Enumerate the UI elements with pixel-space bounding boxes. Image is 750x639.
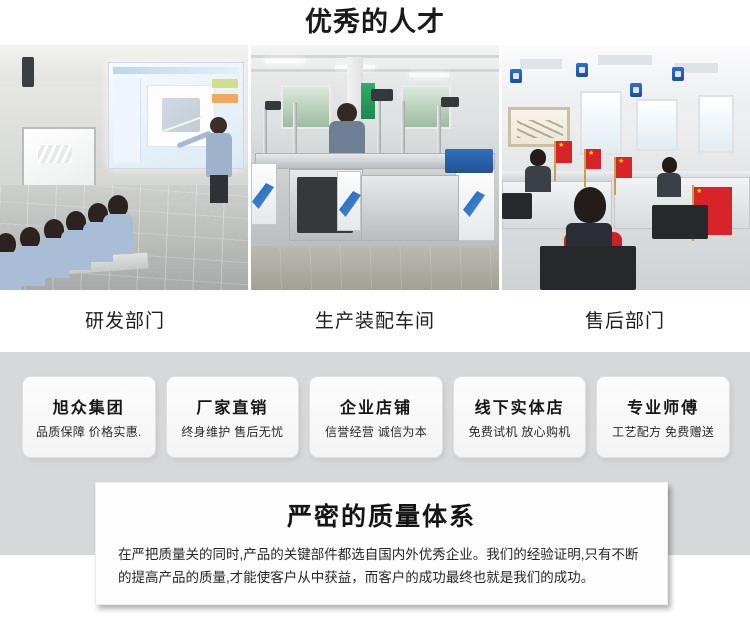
photo-assembly-workshop [251,45,499,290]
machine-rod [377,97,381,153]
feature-card-subtitle: 工艺配方 免费赠送 [612,423,714,440]
speaker-icon [22,57,34,87]
hanging-sign-icon [510,69,522,83]
ceiling-tile [598,55,652,65]
feature-card-professional-master[interactable]: 专业师傅 工艺配方 免费赠送 [596,376,730,458]
ceiling-lamp [265,59,305,63]
machine-frame [361,175,459,241]
window [281,85,331,129]
screen-sidebar [113,78,141,162]
ceiling-lamp [409,73,449,77]
blue-crate [445,149,493,173]
caption-aftersales-department: 售后部门 [500,290,750,354]
monitor [502,193,532,219]
promo-page: 优秀的人才 [0,0,750,639]
floor [251,246,499,290]
staff-person [530,149,551,192]
china-flag [586,149,601,169]
machine-rod [263,107,267,153]
presenter-body [206,133,232,177]
window [580,91,622,155]
monitor [540,246,636,290]
machine-head [441,97,459,107]
quality-system-panel: 严密的质量体系 在严把质量关的同时,产品的关键部件都选自国内外优秀企业。我们的经… [95,482,668,605]
feature-card-subtitle: 终身维护 售后无忧 [181,423,283,440]
window [698,95,734,153]
feature-card-subtitle: 信誉经营 诚信为本 [325,423,427,440]
machine-rod [437,105,441,153]
hanging-sign-icon [630,83,642,97]
machine-head [265,101,281,110]
china-flag [556,141,572,163]
hanging-sign-icon [576,63,588,77]
feature-card-title: 旭众集团 [53,394,125,418]
caption-assembly-workshop: 生产装配车间 [250,290,500,354]
feature-card-subtitle: 免费试机 放心购机 [469,423,571,440]
whiteboard [22,127,96,187]
feature-card-enterprise-store[interactable]: 企业店铺 信誉经营 诚信为本 [309,376,443,458]
quality-system-title: 严密的质量体系 [96,497,667,533]
photo-gallery [0,45,750,290]
quality-system-body: 在严把质量关的同时,产品的关键部件都选自国内外优秀企业。我们的经验证明,只有不断… [96,543,667,589]
presenter-legs [210,175,228,203]
feature-card-subtitle: 品质保障 价格实惠. [36,423,142,440]
screen-toolbar [113,67,239,74]
photo-captions: 研发部门 生产装配车间 售后部门 [0,290,750,354]
machine-head [371,89,393,101]
photo-aftersales-department [502,45,750,290]
presenter-person [206,117,234,203]
feature-card-factory-direct[interactable]: 厂家直销 终身维护 售后无忧 [166,376,300,458]
feature-card-offline-store[interactable]: 线下实体店 免费试机 放心购机 [453,376,587,458]
monitor [652,205,708,239]
caption-rnd-department: 研发部门 [0,290,250,354]
feature-card-title: 专业师傅 [627,394,699,418]
feature-card-title: 线下实体店 [475,394,565,418]
feature-card-list: 旭众集团 品质保障 价格实惠. 厂家直销 终身维护 售后无忧 企业店铺 信誉经营… [0,352,750,458]
photo-rnd-department [0,45,248,290]
presenter-head [210,117,227,134]
window [401,85,451,129]
seated-staff-group [0,185,164,290]
staff-person [662,157,681,197]
machine-rod [401,101,405,153]
ceiling-tile [520,59,562,69]
machine-rod [293,103,297,153]
china-flag [616,157,632,178]
hanging-sign-icon [672,67,684,81]
screen-button-green [212,79,238,88]
page-title: 优秀的人才 [0,0,750,45]
feature-card-title: 厂家直销 [196,394,268,418]
window [636,99,678,151]
screen-button-orange [212,94,238,103]
staff-person [108,195,133,254]
feature-card-group[interactable]: 旭众集团 品质保障 价格实惠. [22,376,156,458]
feature-card-title: 企业店铺 [340,394,412,418]
